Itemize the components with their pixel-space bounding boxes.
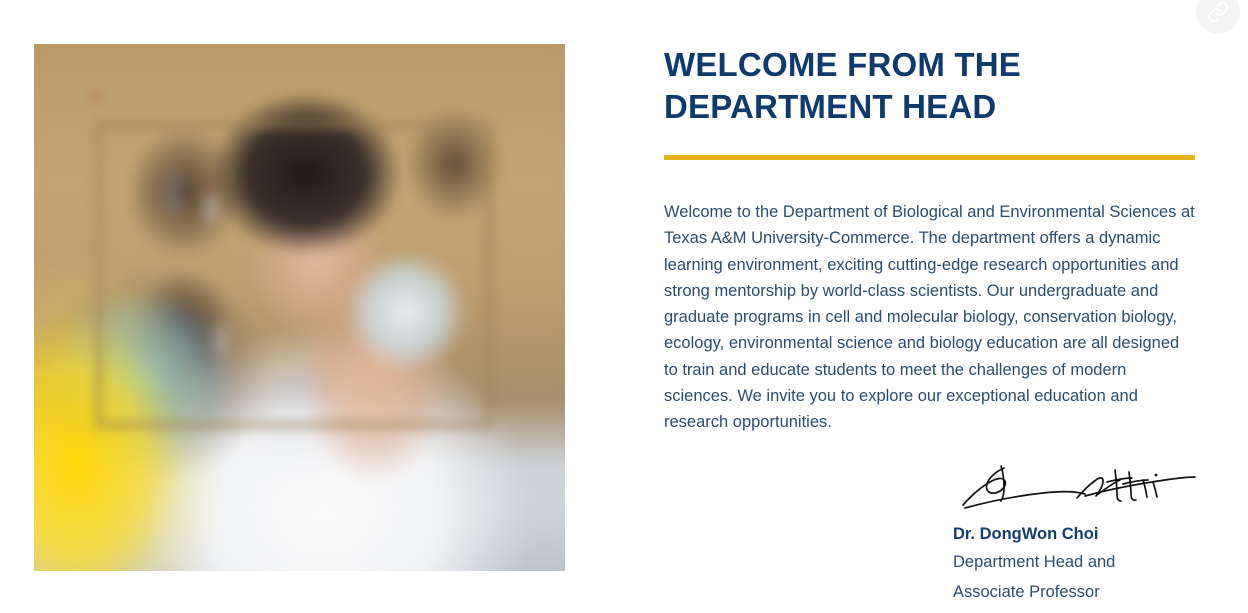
signature-name: Dr. DongWon Choi — [953, 521, 1098, 547]
welcome-page: Welcome from the Department Head Welcome… — [0, 0, 1248, 613]
signature-block: Dr. DongWon Choi Department Head and Ass… — [664, 458, 1196, 607]
signature-title-line-2: Associate Professor — [953, 577, 1100, 607]
link-icon — [1207, 1, 1229, 23]
signature-title-line-1: Department Head and — [953, 547, 1115, 577]
welcome-content: Welcome from the Department Head Welcome… — [664, 44, 1196, 607]
signature-icon — [957, 458, 1199, 514]
department-head-photo — [34, 44, 565, 571]
laboratory-photo — [34, 44, 565, 571]
welcome-paragraph: Welcome to the Department of Biological … — [664, 199, 1195, 436]
share-link-button[interactable] — [1196, 0, 1240, 34]
gold-divider — [664, 155, 1195, 160]
page-title: Welcome from the Department Head — [664, 44, 1024, 128]
